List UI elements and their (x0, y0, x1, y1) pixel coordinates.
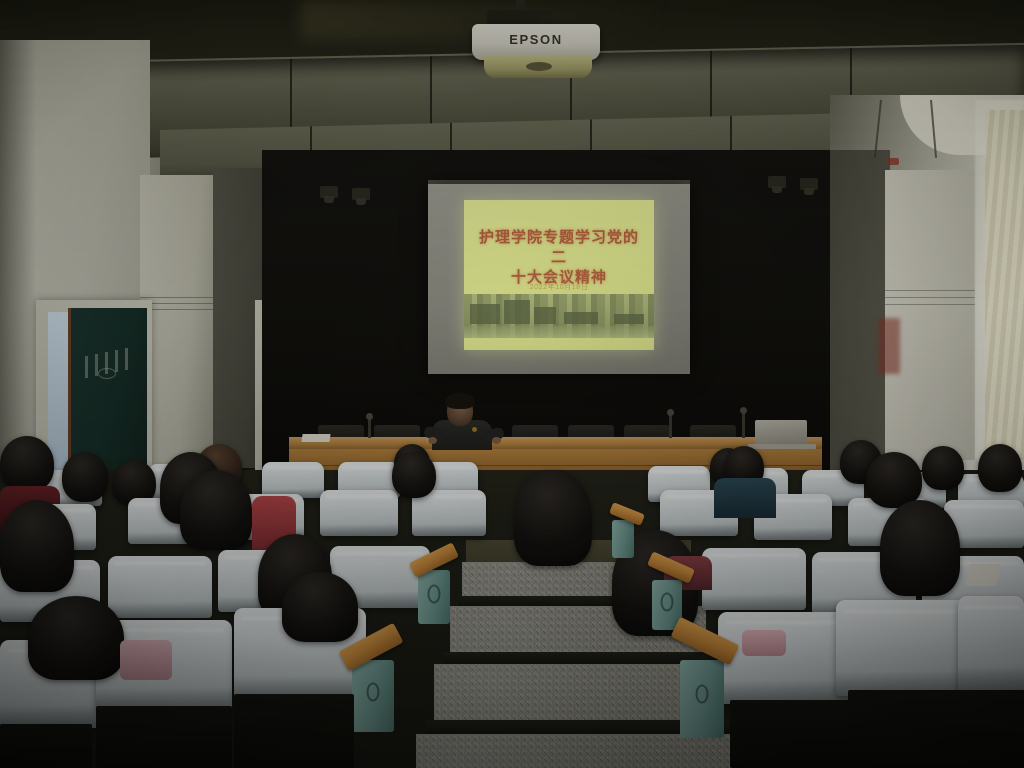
audience-head-a2 (62, 452, 108, 502)
audience-head-d2 (282, 572, 358, 642)
papers-left (301, 434, 330, 442)
stage-spotlight-2 (800, 178, 818, 190)
right-wall-panel (885, 170, 975, 460)
microphone-left (368, 418, 371, 438)
seat-row-c-2[interactable] (108, 556, 212, 618)
seat-side-panel-left-2 (418, 570, 450, 624)
presenter-hair (445, 393, 475, 409)
projected-slide: 护理学院专题学习党的二 十大会议精神 2022年10月18日 (464, 200, 654, 350)
seat-cover (836, 600, 972, 696)
aisle-riser-2 (444, 652, 712, 664)
audience-head-a9 (978, 444, 1022, 492)
seat-side-hole (696, 685, 709, 704)
seat-cover (718, 612, 850, 704)
slide-title-line-1: 护理学院专题学习党的二 (474, 228, 644, 268)
audience-head-d1 (28, 596, 124, 680)
audience-head-a8 (922, 446, 964, 490)
seat-body-d5 (848, 690, 1024, 768)
projector-brand-label: EPSON (472, 32, 600, 47)
slide-date: 2022年10月18日 (464, 282, 654, 292)
side-door[interactable] (68, 308, 147, 470)
wall-stain-red (878, 318, 900, 374)
seat-cover (262, 462, 324, 498)
door-open-gap (48, 312, 70, 470)
seat-cover (108, 556, 212, 618)
right-wall-shadowed (830, 150, 890, 470)
seat-row-c-5[interactable] (702, 548, 806, 610)
audience-head-b2 (180, 470, 252, 550)
seat-cover (702, 548, 806, 610)
audience-head-c1 (0, 500, 74, 592)
seat-side-hole (428, 584, 441, 603)
seat-cover (958, 596, 1024, 692)
laptop-keyboard[interactable] (748, 444, 816, 449)
laptop-screen[interactable] (755, 420, 807, 446)
seat-side-panel-left-1 (352, 660, 394, 732)
presenter-hand-right (492, 437, 501, 444)
seat-row-a-3[interactable] (262, 462, 324, 498)
stage-spotlight-3 (320, 186, 338, 198)
seat-side-panel-far (612, 520, 634, 558)
seat-body-d2 (96, 706, 232, 768)
seat-side-panel-right-2 (680, 660, 724, 738)
audience-head-a1 (0, 436, 54, 492)
audience-head-b4 (392, 452, 436, 498)
seat-body-d1 (0, 724, 92, 768)
audience-head-c4 (880, 500, 960, 596)
seat-side-hole (661, 593, 674, 612)
seat-row-d-5[interactable] (836, 600, 972, 696)
slide-campus-photo (464, 294, 654, 338)
seat-cover (320, 490, 398, 536)
presenter-lapel-badge (472, 427, 477, 432)
handout-paper (966, 564, 1001, 586)
seat-body-d4 (730, 700, 860, 768)
presenter-hand-left (428, 437, 437, 444)
lecture-hall-photo: EPSON 护理学院专题学习党的二 十大会议精神 (0, 0, 1024, 768)
wall-marker-red (888, 158, 899, 165)
seat-side-hole (367, 682, 380, 701)
door-handle[interactable] (98, 368, 116, 379)
microphone-right (669, 414, 672, 438)
seat-row-d-6[interactable] (958, 596, 1024, 692)
projector-lens (484, 56, 592, 78)
window-curtain (985, 110, 1024, 460)
seat-body-d3 (234, 694, 354, 768)
audience-head-b3 (514, 470, 592, 566)
stage-spotlight-4 (352, 188, 370, 200)
audience-shoulder-d1 (120, 640, 172, 680)
audience-torso-b5 (714, 478, 776, 518)
audience-shoulder-d4 (742, 630, 786, 656)
aisle-step-4 (416, 734, 742, 768)
seat-row-b-4[interactable] (320, 490, 398, 536)
microphone-far-right (742, 412, 745, 438)
slide-title: 护理学院专题学习党的二 十大会议精神 (464, 228, 654, 288)
seat-row-d-4[interactable] (718, 612, 850, 704)
left-wall-shadow (0, 30, 36, 490)
stage-spotlight-1 (768, 176, 786, 188)
